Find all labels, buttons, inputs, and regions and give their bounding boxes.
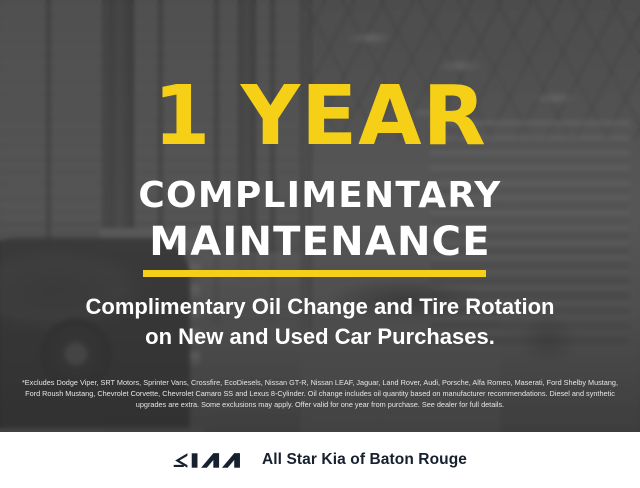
headline-secondary-line1: COMPLIMENTARY bbox=[0, 177, 640, 215]
kia-logo-icon bbox=[173, 451, 245, 470]
ad-content: 1 YEAR COMPLIMENTARY MAINTENANCE Complim… bbox=[0, 0, 640, 432]
footer-bar: All Star Kia of Baton Rouge bbox=[0, 432, 640, 488]
dealer-name-label: All Star Kia of Baton Rouge bbox=[262, 451, 467, 469]
footer-branding: All Star Kia of Baton Rouge bbox=[173, 451, 467, 470]
yellow-divider-bar bbox=[143, 270, 486, 277]
disclaimer-fine-print: *Excludes Dodge Viper, SRT Motors, Sprin… bbox=[14, 377, 626, 411]
subheadline-line2: on New and Used Car Purchases. bbox=[0, 322, 640, 351]
headline-primary: 1 YEAR bbox=[0, 76, 640, 158]
subheadline-line1: Complimentary Oil Change and Tire Rotati… bbox=[0, 292, 640, 321]
headline-secondary-line2: MAINTENANCE bbox=[0, 221, 640, 263]
kia-complimentary-maintenance-ad: 1 YEAR COMPLIMENTARY MAINTENANCE Complim… bbox=[0, 0, 640, 488]
